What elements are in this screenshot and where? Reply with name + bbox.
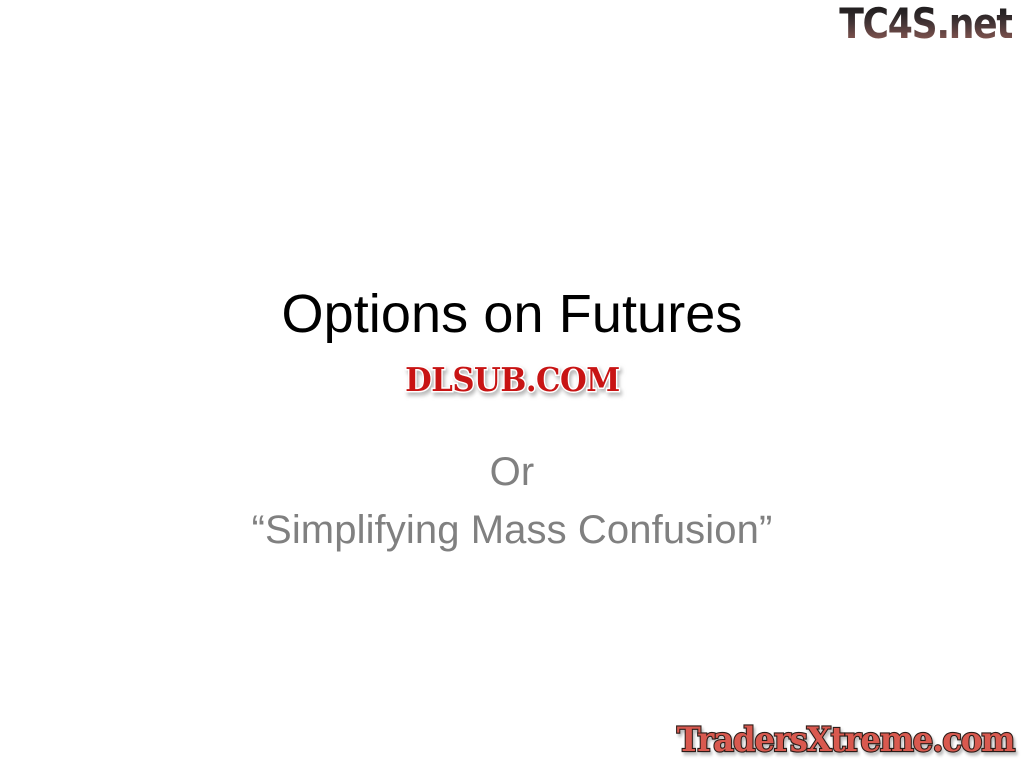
dlsub-watermark: DLSUB.COM xyxy=(0,360,1024,400)
subtitle-line-2: “Simplifying Mass Confusion” xyxy=(0,501,1024,559)
subtitle-area: Or “Simplifying Mass Confusion” xyxy=(0,443,1024,559)
presentation-slide: TC4S.net Options on Futures DLSUB.COM Or… xyxy=(0,0,1024,768)
subtitle-line-1: Or xyxy=(0,443,1024,501)
dlsub-watermark-text: DLSUB.COM xyxy=(405,360,620,400)
page-title: Options on Futures xyxy=(0,283,1024,345)
tradersxtreme-watermark-logo: TradersXtreme.com xyxy=(676,720,1014,760)
tc4s-watermark-logo: TC4S.net xyxy=(839,2,1012,46)
title-area: Options on Futures xyxy=(0,283,1024,345)
